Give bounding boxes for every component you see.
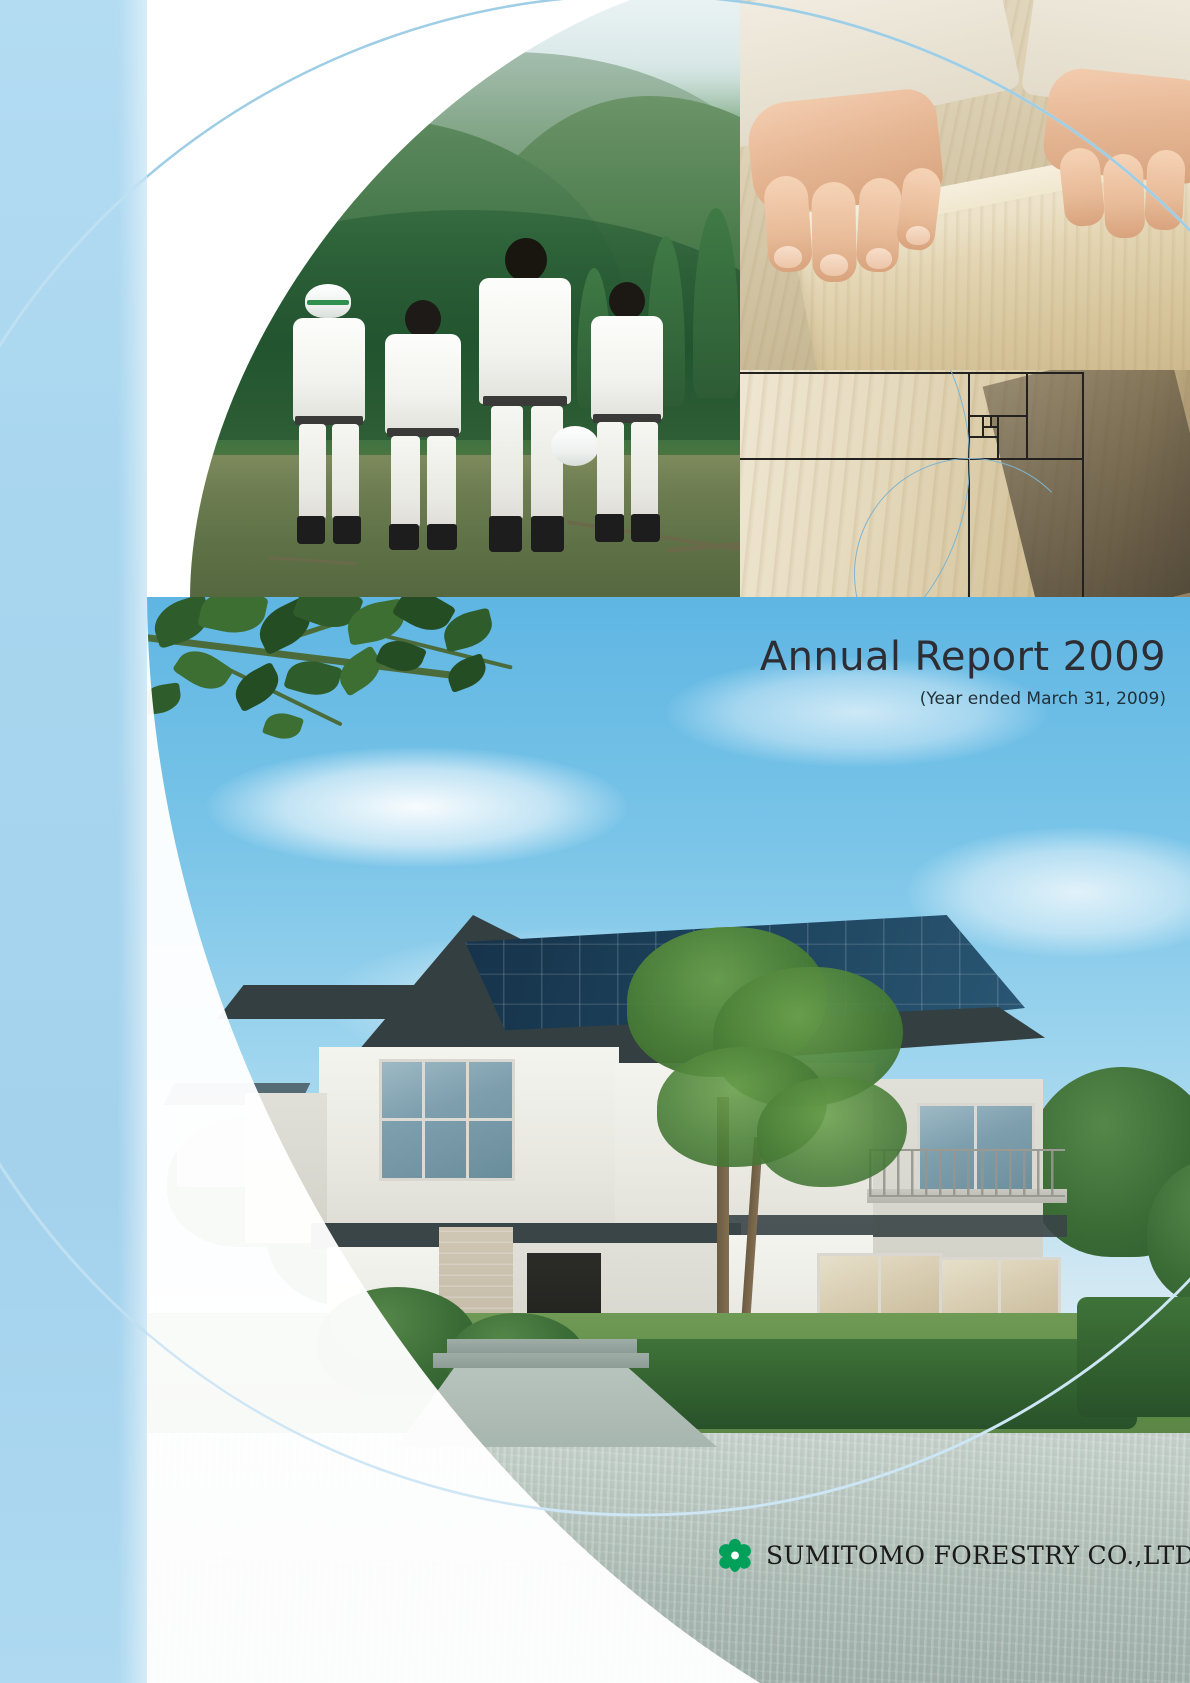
fingernail [866,248,892,269]
hedge [1077,1297,1190,1417]
worker-leg [427,436,456,528]
worker-leg [531,406,563,520]
worker-boot [531,516,564,552]
leaf [262,708,304,744]
worker-leg [597,422,624,518]
worker-torso [479,278,571,404]
fingernail [774,246,802,268]
walkway-step [447,1339,637,1353]
photo-forest-workers [147,0,740,597]
fingernail [906,226,930,245]
window-mullion [382,1118,512,1121]
hedge [617,1339,1137,1429]
worker-boot [427,524,457,550]
leaf [228,662,285,713]
worker-leg [631,422,658,518]
photo-modern-house [147,597,1190,1683]
worker-head [609,282,645,320]
worker-boot [595,514,624,542]
page-title: Annual Report 2009 [760,636,1166,679]
quatrefoil-icon [718,1538,752,1572]
worker-boot [389,524,419,550]
annual-report-cover: Annual Report 2009 (Year ended March 31,… [0,0,1190,1683]
golden-rect-line [990,415,992,427]
side-wall [245,1093,327,1243]
forestry-worker [383,300,469,550]
page-subtitle: (Year ended March 31, 2009) [760,689,1166,709]
cloud [207,747,627,867]
forestry-worker [289,284,375,546]
worker-boot [297,516,325,544]
worker-boot [489,516,522,552]
walkway-step [433,1353,649,1368]
company-logo: SUMITOMO FORESTRY CO.,LTD. [718,1538,1190,1572]
company-name: SUMITOMO FORESTRY CO.,LTD. [766,1541,1190,1570]
forestry-worker [589,282,671,544]
leaf [443,653,490,693]
worker-leg [299,424,326,520]
photo-wood-handling [740,0,1190,370]
finger [1103,153,1146,238]
fingernail [820,254,848,276]
worker-leg [391,436,420,528]
worker-torso [293,318,365,422]
window-upper-left [379,1059,515,1181]
worker-torso [591,316,663,420]
worker-torso [385,334,461,434]
photo-golden-ratio-wood [740,370,1190,597]
left-band-gradient [118,0,150,1683]
leaf [147,682,183,715]
forestry-worker [479,238,575,556]
title-block: Annual Report 2009 (Year ended March 31,… [760,636,1166,709]
tree-canopy [757,1077,907,1187]
worker-boot [333,516,361,544]
worker-leg [332,424,359,520]
worker-head [405,300,441,338]
leaf [197,597,268,639]
worker-belt [483,396,567,406]
worker-boot [631,514,660,542]
helmet-band [307,300,349,305]
worker-leg [491,406,523,520]
worker-head [505,238,547,282]
finger [1144,149,1186,231]
left-blue-band [0,0,147,1683]
top-photo-strip [147,0,1190,597]
